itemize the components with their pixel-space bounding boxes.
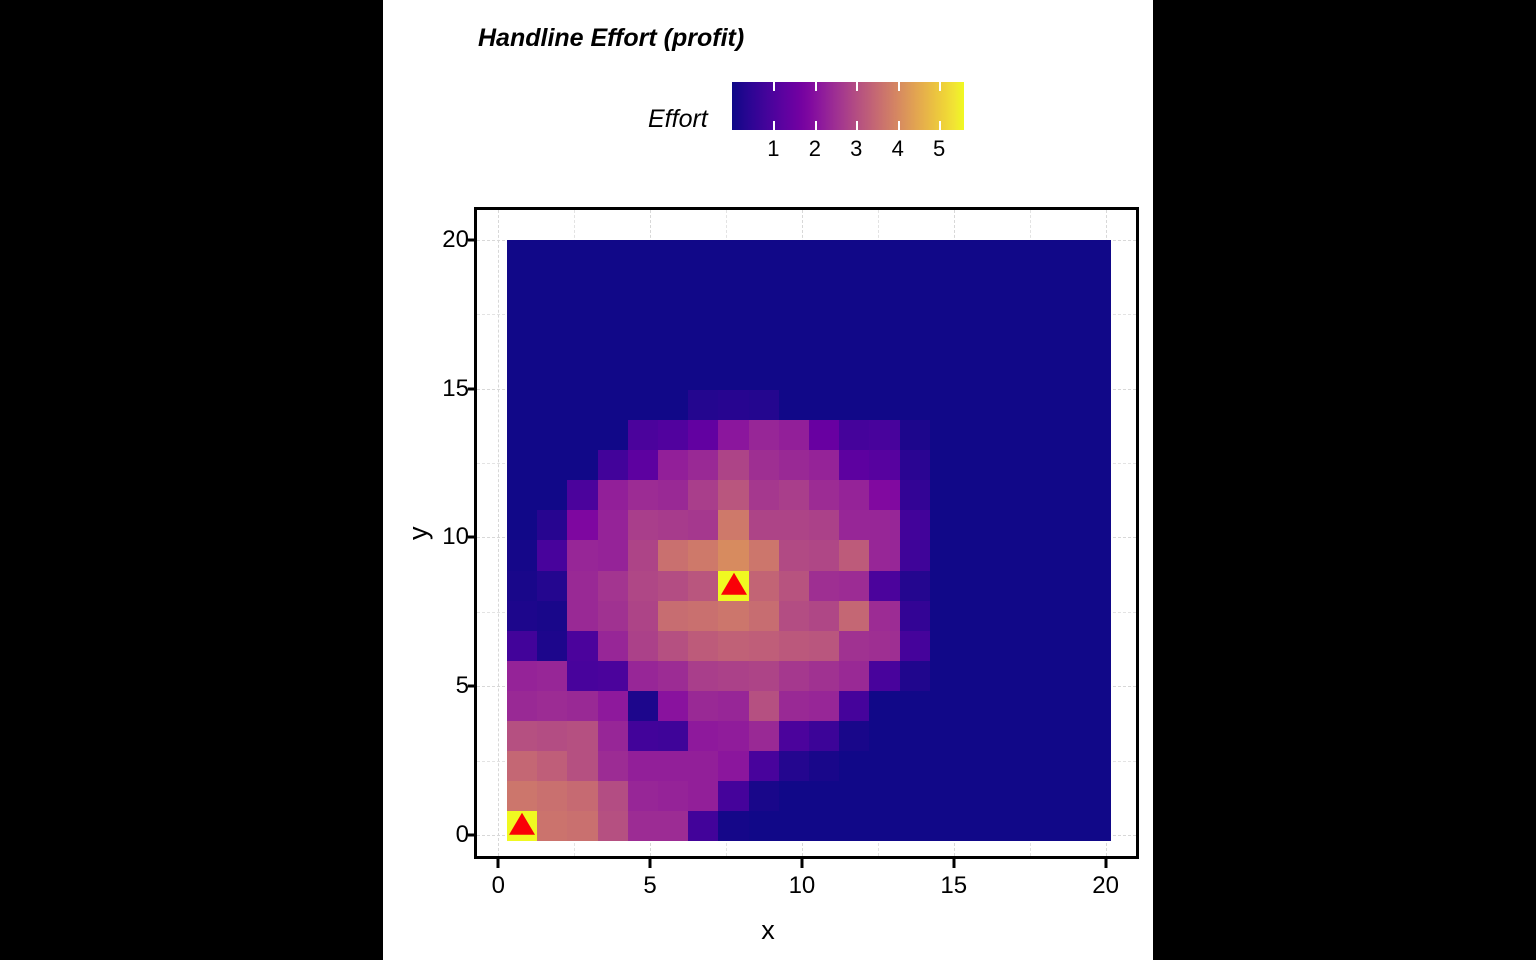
heatmap-cell [598, 480, 628, 510]
x-tick-mark-20 [1104, 859, 1107, 868]
heatmap-cell [688, 781, 718, 811]
heatmap-cell [718, 300, 748, 330]
x-tick-label-20: 20 [1092, 872, 1119, 900]
colorbar-tick-3 [856, 121, 858, 130]
heatmap-cell [930, 751, 960, 781]
heatmap-cell [537, 420, 567, 450]
colorbar-tick-label-5: 5 [933, 136, 945, 162]
heatmap-cell [869, 390, 899, 420]
heatmap-cell [930, 811, 960, 841]
heatmap-cell [960, 480, 990, 510]
heatmap-cell [567, 661, 597, 691]
heatmap-cell [1081, 751, 1111, 781]
heatmap-cell [658, 420, 688, 450]
heatmap-cell [960, 510, 990, 540]
heatmap-cell [567, 631, 597, 661]
heatmap-cell [598, 571, 628, 601]
heatmap-cell [1020, 270, 1050, 300]
heatmap-cell [507, 811, 537, 841]
heatmap-cell [809, 661, 839, 691]
heatmap-cell [869, 330, 899, 360]
heatmap-cell [688, 721, 718, 751]
y-tick-label-20: 20 [442, 226, 469, 254]
heatmap-cell [1020, 631, 1050, 661]
heatmap-cell [507, 661, 537, 691]
heatmap-cell [537, 781, 567, 811]
heatmap-cell [809, 571, 839, 601]
legend-title: Effort [648, 105, 708, 134]
heatmap-cell [809, 390, 839, 420]
heatmap-cell [688, 360, 718, 390]
heatmap-cell [507, 751, 537, 781]
heatmap-cell [1051, 661, 1081, 691]
heatmap-cell [809, 811, 839, 841]
heatmap-cell [749, 661, 779, 691]
heatmap-cell [839, 390, 869, 420]
heatmap-cell [930, 390, 960, 420]
heatmap-cell [658, 811, 688, 841]
heatmap-cell [960, 631, 990, 661]
heatmap-cell [658, 571, 688, 601]
heatmap-cell [1051, 811, 1081, 841]
heatmap-cell [779, 781, 809, 811]
heatmap-cell [567, 571, 597, 601]
heatmap-cell [839, 721, 869, 751]
heatmap-cell [900, 300, 930, 330]
heatmap-cell [779, 270, 809, 300]
heatmap-cell [900, 540, 930, 570]
heatmap-cell [839, 300, 869, 330]
heatmap-cell [598, 601, 628, 631]
heatmap-cell [1051, 420, 1081, 450]
heatmap-cell [628, 601, 658, 631]
heatmap-cell [779, 360, 809, 390]
heatmap-cell [537, 480, 567, 510]
heatmap-cell [507, 571, 537, 601]
heatmap-cell [900, 631, 930, 661]
heatmap-cell [688, 691, 718, 721]
heatmap-cell [809, 781, 839, 811]
heatmap-cell [507, 360, 537, 390]
colorbar-tick-5 [939, 121, 941, 130]
heatmap-cell [628, 450, 658, 480]
heatmap-cell [718, 721, 748, 751]
heatmap-cell [628, 270, 658, 300]
heatmap-cell [749, 811, 779, 841]
colorbar-tick-4 [898, 82, 900, 91]
heatmap-cell [628, 480, 658, 510]
heatmap-cell [507, 781, 537, 811]
heatmap-cell [507, 510, 537, 540]
heatmap-cell [990, 510, 1020, 540]
heatmap-cell [900, 751, 930, 781]
heatmap-cell [990, 450, 1020, 480]
colorbar-tick-label-4: 4 [892, 136, 904, 162]
heatmap-cell [718, 751, 748, 781]
heatmap-cell [990, 781, 1020, 811]
heatmap-cell [1051, 270, 1081, 300]
heatmap-cell [809, 300, 839, 330]
heatmap-cell [779, 450, 809, 480]
heatmap-cell [900, 420, 930, 450]
y-tick-label-0: 0 [456, 821, 469, 849]
heatmap-cell [658, 540, 688, 570]
heatmap-cell [960, 300, 990, 330]
heatmap-cell [507, 300, 537, 330]
heatmap-cell [598, 240, 628, 270]
colorbar-tick-4 [898, 121, 900, 130]
heatmap-cell [809, 240, 839, 270]
heatmap-cell [1081, 300, 1111, 330]
heatmap-cell [598, 390, 628, 420]
heatmap-cell [1020, 330, 1050, 360]
heatmap-cell [658, 781, 688, 811]
heatmap-cell [839, 420, 869, 450]
heatmap-cell [1081, 601, 1111, 631]
heatmap-cell [1051, 390, 1081, 420]
heatmap-cell [779, 540, 809, 570]
heatmap-cell [567, 751, 597, 781]
x-axis-tick-marks [474, 859, 1139, 869]
heatmap-cell [628, 360, 658, 390]
heatmap-cell [960, 330, 990, 360]
heatmap-cell [749, 781, 779, 811]
heatmap-cell [809, 540, 839, 570]
y-tick-label-15: 15 [442, 375, 469, 403]
heatmap-cell [749, 240, 779, 270]
y-axis-label: y [403, 527, 434, 541]
heatmap-cell [567, 300, 597, 330]
heatmap-cell [900, 360, 930, 390]
x-tick-mark-5 [649, 859, 652, 868]
heatmap-cell [628, 420, 658, 450]
heatmap-cell [1081, 420, 1111, 450]
heatmap-cell [658, 751, 688, 781]
heatmap-cell [749, 721, 779, 751]
heatmap-cell [688, 330, 718, 360]
heatmap-cell [960, 601, 990, 631]
heatmap-cell [1020, 721, 1050, 751]
heatmap-cell [537, 571, 567, 601]
colorbar-tick-1 [773, 121, 775, 130]
heatmap-cell [960, 571, 990, 601]
heatmap-cell [1020, 510, 1050, 540]
heatmap-cell [537, 601, 567, 631]
heatmap-cell [1081, 510, 1111, 540]
heatmap-cell [869, 631, 899, 661]
heatmap-cell [839, 480, 869, 510]
heatmap-cell [507, 330, 537, 360]
heatmap-cell [990, 571, 1020, 601]
heatmap-cell [869, 240, 899, 270]
heatmap-cell [718, 781, 748, 811]
heatmap-cell [809, 751, 839, 781]
heatmap-cell [1020, 691, 1050, 721]
heatmap-cell [537, 270, 567, 300]
heatmap-cell [779, 751, 809, 781]
heatmap-cell [990, 631, 1020, 661]
heatmap-cell [537, 540, 567, 570]
heatmap-cell [990, 420, 1020, 450]
heatmap-cell [960, 751, 990, 781]
heatmap-cell [688, 751, 718, 781]
heatmap-cell [567, 420, 597, 450]
heatmap-cell [628, 240, 658, 270]
colorbar-tick-3 [856, 82, 858, 91]
heatmap-cell [598, 691, 628, 721]
heatmap-cell [1081, 390, 1111, 420]
heatmap-cell [930, 721, 960, 751]
heatmap-cell [839, 571, 869, 601]
heatmap-cell [839, 450, 869, 480]
heatmap-cell [1081, 631, 1111, 661]
heatmap-cell [749, 571, 779, 601]
x-tick-label-15: 15 [940, 872, 967, 900]
heatmap-cell [749, 390, 779, 420]
heatmap-cell [718, 330, 748, 360]
heatmap-cell [900, 601, 930, 631]
heatmap-cell [990, 480, 1020, 510]
heatmap-cell [658, 360, 688, 390]
colorbar-tick-labels: 12345 [732, 136, 964, 162]
heatmap-cell [567, 480, 597, 510]
heatmap-cell [507, 631, 537, 661]
heatmap-cell [598, 631, 628, 661]
x-tick-label-0: 0 [492, 872, 505, 900]
heatmap-cell [537, 751, 567, 781]
heatmap-cell [930, 631, 960, 661]
heatmap-cell [567, 240, 597, 270]
heatmap-cell [809, 601, 839, 631]
heatmap-cell [779, 631, 809, 661]
heatmap-cell [507, 240, 537, 270]
heatmap-cell [1051, 631, 1081, 661]
heatmap-cell [930, 270, 960, 300]
heatmap-cell [507, 480, 537, 510]
heatmap-cell [1020, 300, 1050, 330]
heatmap-cell [900, 330, 930, 360]
heatmap-cell [658, 661, 688, 691]
heatmap-cell [930, 240, 960, 270]
heatmap-cell [658, 390, 688, 420]
heatmap-cell [900, 450, 930, 480]
heatmap-cell [990, 721, 1020, 751]
heatmap-cell [900, 721, 930, 751]
heatmap-cell [839, 661, 869, 691]
heatmap-cell [839, 510, 869, 540]
heatmap-cell [628, 691, 658, 721]
heatmap-cell [960, 420, 990, 450]
heatmap-cell [1081, 540, 1111, 570]
heatmap-cell [537, 300, 567, 330]
heatmap-cell [1081, 480, 1111, 510]
heatmap-cell [869, 601, 899, 631]
heatmap-cell [839, 360, 869, 390]
heatmap-cell [809, 510, 839, 540]
heatmap-cell [1020, 480, 1050, 510]
heatmap-cell [779, 691, 809, 721]
heatmap-cell [869, 661, 899, 691]
heatmap-cell [1051, 330, 1081, 360]
heatmap-cell [990, 300, 1020, 330]
heatmap-cell [869, 751, 899, 781]
heatmap-cell [839, 270, 869, 300]
screenshot-root: Handline Effort (profit) Effort 12345 05… [0, 0, 1536, 960]
heatmap-cell [930, 601, 960, 631]
heatmap-cell [779, 300, 809, 330]
heatmap-cell [598, 330, 628, 360]
heatmap-cell [869, 480, 899, 510]
heatmap-cell [839, 751, 869, 781]
heatmap-cell [900, 480, 930, 510]
heatmap-cell [869, 510, 899, 540]
heatmap-cell [930, 661, 960, 691]
heatmap-cell [1020, 601, 1050, 631]
heatmap-cell [749, 601, 779, 631]
heatmap-cell [628, 751, 658, 781]
heatmap-cell [567, 270, 597, 300]
heatmap-cell [507, 420, 537, 450]
heatmap-cell [1081, 240, 1111, 270]
heatmap-cell [537, 450, 567, 480]
heatmap-cell [869, 360, 899, 390]
heatmap-cell [990, 540, 1020, 570]
x-tick-label-10: 10 [789, 872, 816, 900]
figure-panel: Handline Effort (profit) Effort 12345 05… [383, 0, 1153, 960]
heatmap-cell [869, 811, 899, 841]
x-axis-label: x [383, 915, 1153, 946]
heatmap-cell [749, 751, 779, 781]
heatmap-cell [598, 781, 628, 811]
heatmap-cell [960, 781, 990, 811]
heatmap-cell [749, 480, 779, 510]
heatmap-cell [930, 510, 960, 540]
heatmap-cell [1081, 691, 1111, 721]
colorbar-tick-label-3: 3 [850, 136, 862, 162]
heatmap-cell [658, 450, 688, 480]
heatmap-cell [718, 631, 748, 661]
heatmap-cell [990, 240, 1020, 270]
heatmap-cell [749, 631, 779, 661]
heatmap-cell [749, 300, 779, 330]
heatmap-cell [1081, 360, 1111, 390]
heatmap-cell [869, 300, 899, 330]
heatmap-cell [1051, 781, 1081, 811]
heatmap-cell [809, 420, 839, 450]
heatmap-cell [1081, 571, 1111, 601]
heatmap-cell [598, 420, 628, 450]
heatmap-cell [1020, 420, 1050, 450]
heatmap-cell [960, 240, 990, 270]
heatmap-cell [930, 571, 960, 601]
colorbar-tick-1 [773, 82, 775, 91]
heatmap-cell [567, 450, 597, 480]
heatmap-cell [598, 510, 628, 540]
heatmap-cell [1020, 240, 1050, 270]
heatmap-cell [1051, 721, 1081, 751]
heatmap-cell [839, 601, 869, 631]
heatmap-cell [598, 661, 628, 691]
heatmap-cell [718, 811, 748, 841]
heatmap-cell [688, 420, 718, 450]
heatmap-cell [718, 240, 748, 270]
heatmap-cell [1020, 360, 1050, 390]
heatmap-cell [537, 510, 567, 540]
heatmap-cell [779, 811, 809, 841]
heatmap-cell [567, 330, 597, 360]
heatmap-cell [598, 300, 628, 330]
heatmap-cell [900, 691, 930, 721]
heatmap-cell [688, 571, 718, 601]
heatmap-cell [658, 270, 688, 300]
heatmap-cell [1051, 300, 1081, 330]
heatmap-cell [809, 631, 839, 661]
heatmap-cell [628, 510, 658, 540]
heatmap-cell [749, 510, 779, 540]
heatmap-cell [930, 420, 960, 450]
plot-area [474, 207, 1139, 859]
heatmap-cell [537, 811, 567, 841]
heatmap-cell [567, 540, 597, 570]
heatmap-cell [567, 691, 597, 721]
colorbar-gradient [732, 82, 964, 130]
heatmap-cell [537, 631, 567, 661]
heatmap-cell [658, 330, 688, 360]
heatmap-cell [507, 721, 537, 751]
heatmap-cell [960, 540, 990, 570]
heatmap-cell [598, 721, 628, 751]
heatmap-cell [779, 390, 809, 420]
heatmap-cell [718, 510, 748, 540]
heatmap-cell [537, 390, 567, 420]
heatmap-cell [960, 661, 990, 691]
heatmap-cell [598, 751, 628, 781]
heatmap-cell [990, 330, 1020, 360]
heatmap-cell [900, 571, 930, 601]
heatmap-cell [960, 270, 990, 300]
heatmap-cell [809, 480, 839, 510]
heatmap-cell [930, 480, 960, 510]
heatmap-cell [537, 240, 567, 270]
heatmap-cell [718, 270, 748, 300]
heatmap-cell [658, 300, 688, 330]
heatmap-cell [507, 691, 537, 721]
heatmap-cell [990, 661, 1020, 691]
heatmap-cell [900, 270, 930, 300]
heatmap-cell [749, 691, 779, 721]
heatmap-cell [658, 480, 688, 510]
heatmap-cell [718, 540, 748, 570]
heatmap-cell [900, 510, 930, 540]
heatmap-cell [1051, 480, 1081, 510]
heatmap-cell [1081, 270, 1111, 300]
heatmap-cell [990, 811, 1020, 841]
heatmap-grid [507, 240, 1111, 841]
colorbar-tick-2 [815, 82, 817, 91]
heatmap-cell [628, 781, 658, 811]
heatmap-cell [900, 661, 930, 691]
heatmap-cell [507, 390, 537, 420]
heatmap-cell [537, 691, 567, 721]
heatmap-cell [718, 661, 748, 691]
heatmap-cell [628, 300, 658, 330]
x-tick-mark-0 [497, 859, 500, 868]
heatmap-cell [507, 601, 537, 631]
heatmap-cell [628, 571, 658, 601]
heatmap-cell [1051, 601, 1081, 631]
heatmap-cell [567, 360, 597, 390]
heatmap-cell [567, 601, 597, 631]
